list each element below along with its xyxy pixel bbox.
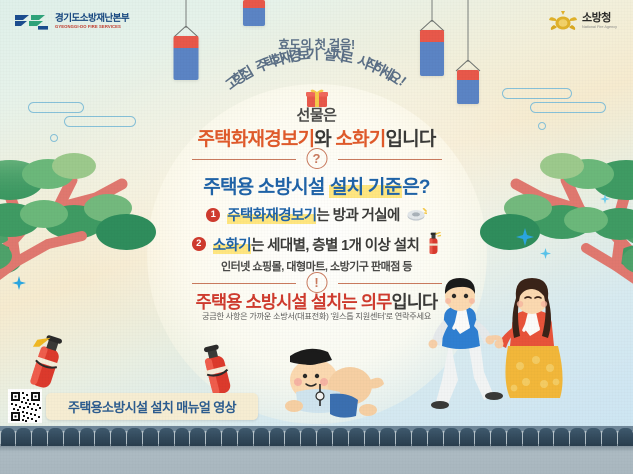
logo-gyeonggi-fire-services: 경기도소방재난본부 GYEONGGI-DO FIRE SERVICES [14,13,129,31]
smoke-detector-icon [407,208,427,222]
gyeonggi-mark-icon [14,13,50,31]
divider-question: ? [192,148,442,170]
fire-safety-poster: 경기도소방재난본부 GYEONGGI-DO FIRE SERVICES 소방청 … [0,0,633,474]
list-item: 2 소화기는 세대별, 층별 1개 이상 설치 [0,232,633,256]
banner-label: 주택용소방시설 설치 매뉴얼 영상 [68,397,236,416]
gift-highlight-alarm: 주택화재경보기 [197,129,314,150]
arc-char: 기 [305,44,319,64]
gift-conjunction: 와 [314,129,331,150]
manual-video-banner[interactable]: 주택용소방시설 설치 매뉴얼 영상 [46,393,258,420]
tile-row [0,426,633,446]
obligation-highlight: 주택용 소방시설 설치는 의무 [196,292,392,312]
gift-line-2: 주택화재경보기와 소화기입니다 [0,124,633,151]
logo-left-english: GYEONGGI-DO FIRE SERVICES [55,25,129,29]
question-title-part2: 은? [402,177,430,198]
logo-right-english: National Fire Agency [582,26,617,30]
hanbok-boy [429,278,504,409]
item2-rest: 는 세대별, 층별 1개 이상 설치 [251,238,419,254]
gift-icon [306,88,328,108]
question-title-part1: 주택용 소방시설 [203,177,329,198]
question-title-highlight: 설치 기준 [329,177,402,198]
ground-roof-tiles [0,426,633,474]
fire-extinguisher-icon [426,232,441,256]
item2-highlight: 소화기 [213,238,251,254]
mascot-character [284,340,388,422]
list-number-2: 2 [192,237,206,251]
question-title: 주택용 소방시설 설치 기준은? [0,172,633,199]
logo-right-korean: 소방청 [582,13,617,24]
list-number-1: 1 [206,208,220,222]
gift-highlight-extinguisher: 소화기 [335,129,385,150]
question-mark-badge: ? [306,148,327,169]
list-item-1-text: 주택화재경보기는 방과 거실에 [227,204,399,225]
hanbok-children-illustration [414,276,594,416]
hanbok-girl [495,278,563,398]
list-item: 1 주택화재경보기는 방과 거실에 [0,204,633,225]
sparkle-3 [12,276,26,290]
fire-extinguisher-prop-left [22,334,72,396]
qr-code[interactable] [8,389,42,423]
list-item-2-text: 소화기는 세대별, 층별 1개 이상 설치 [213,234,419,255]
gift-tail: 입니다 [385,129,435,150]
logo-left-korean: 경기도소방재난본부 [55,14,129,24]
logo-national-fire-agency: 소방청 National Fire Agency [549,10,617,32]
tile-shadow [0,444,633,452]
fire-agency-emblem-icon [549,10,577,32]
item1-highlight: 주택화재경보기 [227,208,316,224]
exclaim-mark-badge: ! [306,272,327,293]
divider-exclaim: ! [192,272,442,294]
requirements-list: 1 주택화재경보기는 방과 거실에 2 소화기는 세대별, 층별 1개 이상 설… [0,204,633,274]
item1-rest: 는 방과 거실에 [316,208,399,224]
